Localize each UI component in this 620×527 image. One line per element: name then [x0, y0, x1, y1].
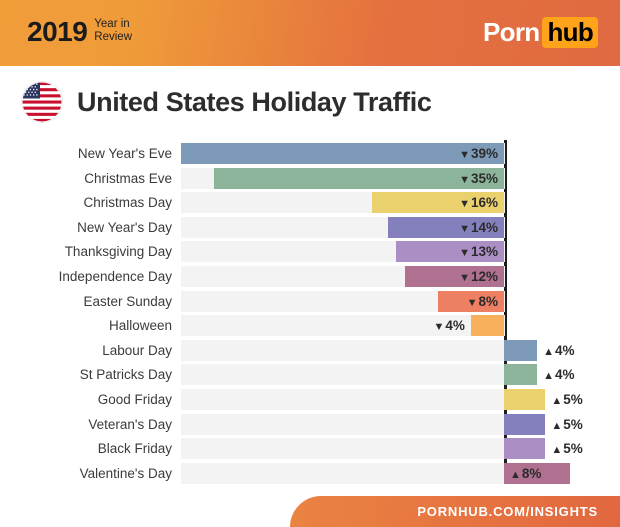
- up-arrow-icon: ▲: [551, 420, 562, 432]
- chart-bar: ▼13%: [396, 241, 504, 262]
- chart-bar-value: ▼12%: [459, 266, 498, 287]
- chart-row-label: Easter Sunday: [0, 291, 172, 312]
- chart-bar-value-text: 8%: [478, 294, 498, 309]
- page-footer: PORNHUB.COM/INSIGHTS: [0, 490, 620, 527]
- down-arrow-icon: ▼: [467, 297, 478, 309]
- chart-row-track: [181, 340, 505, 361]
- down-arrow-icon: ▼: [459, 174, 470, 186]
- chart-row: Halloween▼4%: [0, 315, 620, 336]
- down-arrow-icon: ▼: [459, 149, 470, 161]
- chart-bar-value-text: 5%: [563, 392, 583, 407]
- chart-row: Veteran's Day▲5%: [0, 414, 620, 435]
- chart-row: Thanksgiving Day▼13%: [0, 241, 620, 262]
- chart-bar: ▼14%: [388, 217, 504, 238]
- chart-row-label: Independence Day: [0, 266, 172, 287]
- up-arrow-icon: ▲: [510, 469, 521, 481]
- holiday-traffic-chart: New Year's Eve▼39%Christmas Eve▼35%Chris…: [0, 140, 620, 490]
- chart-bar: ▲5%: [504, 414, 545, 435]
- chart-bar: ▼39%: [181, 143, 504, 164]
- chart-row-track: [181, 438, 505, 459]
- chart-bar-value: ▼16%: [459, 192, 498, 213]
- chart-bar-value: ▲4%: [543, 364, 574, 385]
- chart-bar-value: ▲5%: [551, 438, 582, 459]
- chart-row: Christmas Eve▼35%: [0, 168, 620, 189]
- chart-bar: ▼4%: [471, 315, 504, 336]
- chart-bar-value-text: 4%: [555, 367, 575, 382]
- year-in-review-label: Year in Review: [94, 18, 132, 43]
- chart-bar-value: ▼39%: [459, 143, 498, 164]
- chart-bar-value: ▲8%: [510, 463, 541, 484]
- down-arrow-icon: ▼: [459, 247, 470, 259]
- chart-bar-value-text: 16%: [471, 195, 498, 210]
- chart-row: Black Friday▲5%: [0, 438, 620, 459]
- chart-bar-value-text: 12%: [471, 269, 498, 284]
- chart-bar: ▼16%: [372, 192, 504, 213]
- page-header: 2019 Year in Review Porn hub: [0, 0, 620, 66]
- chart-bar-value-text: 4%: [445, 318, 465, 333]
- us-flag-circle-icon: [22, 82, 62, 122]
- chart-row-label: St Patricks Day: [0, 364, 172, 385]
- down-arrow-icon: ▼: [459, 272, 470, 284]
- chart-bar: ▲4%: [504, 340, 537, 361]
- chart-bar: ▲5%: [504, 389, 545, 410]
- chart-row-track: [181, 389, 505, 410]
- chart-bar: ▼12%: [405, 266, 504, 287]
- chart-row-track: [181, 364, 505, 385]
- chart-bar: ▲4%: [504, 364, 537, 385]
- down-arrow-icon: ▼: [433, 321, 444, 333]
- chart-bar-value: ▼13%: [459, 241, 498, 262]
- chart-bar: ▼8%: [438, 291, 504, 312]
- chart-row-label: Black Friday: [0, 438, 172, 459]
- chart-bar: ▼35%: [214, 168, 504, 189]
- chart-row-label: Veteran's Day: [0, 414, 172, 435]
- chart-row-label: Christmas Day: [0, 192, 172, 213]
- chart-row: Labour Day▲4%: [0, 340, 620, 361]
- chart-bar: ▲8%: [504, 463, 570, 484]
- up-arrow-icon: ▲: [543, 346, 554, 358]
- chart-row: Independence Day▼12%: [0, 266, 620, 287]
- page-title-row: United States Holiday Traffic: [22, 82, 431, 122]
- chart-row: Valentine's Day▲8%: [0, 463, 620, 484]
- chart-row-label: Christmas Eve: [0, 168, 172, 189]
- chart-bar-value-text: 14%: [471, 220, 498, 235]
- up-arrow-icon: ▲: [551, 444, 562, 456]
- chart-bar-value: ▼8%: [467, 291, 498, 312]
- down-arrow-icon: ▼: [459, 198, 470, 210]
- year-label: 2019: [27, 15, 87, 48]
- chart-bar-value-text: 13%: [471, 244, 498, 259]
- chart-bar-value-text: 5%: [563, 417, 583, 432]
- chart-row-track: [181, 414, 505, 435]
- chart-bar-value: ▲5%: [551, 389, 582, 410]
- chart-row: St Patricks Day▲4%: [0, 364, 620, 385]
- brand-logo-second: hub: [542, 17, 598, 48]
- up-arrow-icon: ▲: [551, 395, 562, 407]
- chart-row: Good Friday▲5%: [0, 389, 620, 410]
- chart-bar-value: ▼35%: [459, 168, 498, 189]
- chart-bar-value-text: 4%: [555, 343, 575, 358]
- chart-row-label: Thanksgiving Day: [0, 241, 172, 262]
- up-arrow-icon: ▲: [543, 370, 554, 382]
- chart-bar: ▲5%: [504, 438, 545, 459]
- chart-row-label: New Year's Eve: [0, 143, 172, 164]
- chart-bar-value: ▼4%: [433, 315, 464, 336]
- brand-logo: Porn hub: [483, 17, 598, 48]
- brand-logo-first: Porn: [483, 17, 539, 48]
- chart-bar-value-text: 8%: [522, 466, 542, 481]
- chart-row: New Year's Eve▼39%: [0, 143, 620, 164]
- year-in-review-block: 2019 Year in Review: [27, 15, 132, 48]
- year-in-review-line1: Year in: [94, 18, 132, 31]
- chart-bar-value-text: 5%: [563, 441, 583, 456]
- chart-row-label: Labour Day: [0, 340, 172, 361]
- chart-bar-value-text: 39%: [471, 146, 498, 161]
- chart-bar-value: ▲5%: [551, 414, 582, 435]
- page-title: United States Holiday Traffic: [77, 87, 431, 118]
- chart-bar-value: ▼14%: [459, 217, 498, 238]
- chart-row-label: New Year's Day: [0, 217, 172, 238]
- chart-bar-value-text: 35%: [471, 171, 498, 186]
- chart-row-label: Valentine's Day: [0, 463, 172, 484]
- chart-row-label: Good Friday: [0, 389, 172, 410]
- chart-row: Christmas Day▼16%: [0, 192, 620, 213]
- year-in-review-line2: Review: [94, 31, 132, 44]
- chart-bar-value: ▲4%: [543, 340, 574, 361]
- chart-row: New Year's Day▼14%: [0, 217, 620, 238]
- chart-row-label: Halloween: [0, 315, 172, 336]
- down-arrow-icon: ▼: [459, 223, 470, 235]
- chart-row-track: [181, 463, 505, 484]
- footer-url: PORNHUB.COM/INSIGHTS: [417, 496, 598, 527]
- chart-row: Easter Sunday▼8%: [0, 291, 620, 312]
